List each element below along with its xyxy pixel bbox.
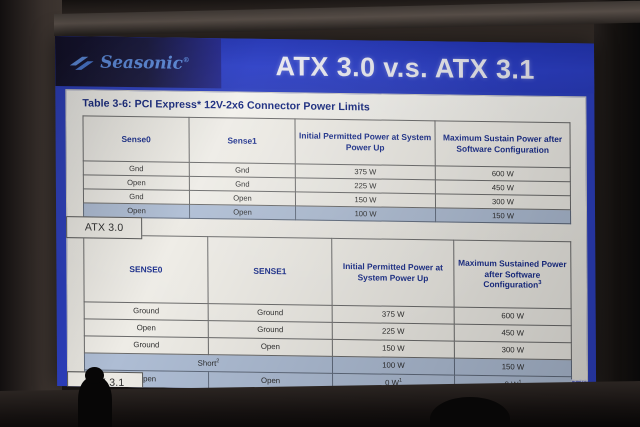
table-atx30: Sense0 Sense1 Initial Permitted Power at… xyxy=(82,115,571,224)
room-left-wall xyxy=(0,0,62,427)
projected-slide-photo: Seasonic® ATX 3.0 v.s. ATX 3.1 Table 3-6… xyxy=(0,0,640,427)
table-cell: Gnd xyxy=(189,162,295,177)
seasonic-trademark: ® xyxy=(183,55,190,64)
table-cell: 150 W xyxy=(454,358,571,377)
th-initial-power: Initial Permitted Power at System Power … xyxy=(295,119,435,166)
table-cell: 150 W xyxy=(332,339,454,358)
table-cell: Ground xyxy=(84,302,208,321)
audience-silhouette-left xyxy=(78,377,112,427)
table-cell: 375 W xyxy=(332,305,454,324)
table-cell: Ground xyxy=(208,321,332,340)
th-max-power: Maximum Sustain Power after Software Con… xyxy=(435,121,570,168)
table-cell: Open xyxy=(189,190,295,205)
table-cell: Gnd xyxy=(83,189,189,204)
slide-title: ATX 3.0 v.s. ATX 3.1 xyxy=(225,43,585,92)
table-atx31-body: GroundGround375 W600 WOpenGround225 W450… xyxy=(84,302,572,394)
th-max-power-2-text: Maximum Sustained Power after Software C… xyxy=(458,258,566,291)
room-right-wall xyxy=(594,0,640,427)
table-cell: 300 W xyxy=(454,341,571,360)
table-cell: 100 W xyxy=(332,356,454,375)
table-cell: Open xyxy=(84,319,208,338)
table-cell: 600 W xyxy=(454,307,571,326)
seasonic-mark-icon xyxy=(67,52,97,73)
label-atx-30: ATX 3.0 xyxy=(66,216,142,239)
th-sense1: Sense1 xyxy=(189,117,295,163)
seasonic-wordmark-text: Seasonic xyxy=(100,52,183,73)
table-cell: Ground xyxy=(84,336,208,355)
th-sense0-upper: SENSE0 xyxy=(84,235,208,304)
table-cell: Gnd xyxy=(189,176,295,191)
table-atx30-header-row: Sense0 Sense1 Initial Permitted Power at… xyxy=(83,116,570,168)
table-cell: 100 W xyxy=(296,206,436,222)
table-cell: Open xyxy=(83,175,189,190)
presentation-slide: Seasonic® ATX 3.0 v.s. ATX 3.1 Table 3-6… xyxy=(55,36,596,394)
table-cell-footnote: 2 xyxy=(216,358,219,364)
content-panel: Table 3-6: PCI Express* 12V-2x6 Connecto… xyxy=(65,89,588,381)
table-cell: Ground xyxy=(208,304,332,323)
table-cell: 225 W xyxy=(332,322,454,341)
table-atx31-header-row: SENSE0 SENSE1 Initial Permitted Power at… xyxy=(84,235,571,309)
th-sense0: Sense0 xyxy=(83,116,189,162)
table-cell: Open xyxy=(208,338,332,357)
seasonic-logo: Seasonic® xyxy=(67,49,199,77)
th-max-power-2: Maximum Sustained Power after Software C… xyxy=(454,240,571,309)
table-cell-text: Short xyxy=(198,358,217,367)
th-sense1-upper: SENSE1 xyxy=(208,237,332,306)
seasonic-wordmark: Seasonic® xyxy=(100,54,190,72)
th-initial-power-2: Initial Permitted Power at System Power … xyxy=(332,238,454,307)
th-max-power-2-footnote: 3 xyxy=(538,280,541,286)
table-cell-footnote: 1 xyxy=(399,378,402,384)
table-atx30-body: GndGnd375 W600 WOpenGnd225 W450 WGndOpen… xyxy=(83,161,570,224)
table-atx31: SENSE0 SENSE1 Initial Permitted Power at… xyxy=(83,234,572,393)
table-cell: 450 W xyxy=(454,324,571,343)
table-cell: Open xyxy=(190,204,296,219)
table-cell: 150 W xyxy=(436,208,571,224)
table-cell: Gnd xyxy=(83,161,189,176)
table-caption: Table 3-6: PCI Express* 12V-2x6 Connecto… xyxy=(82,97,370,113)
